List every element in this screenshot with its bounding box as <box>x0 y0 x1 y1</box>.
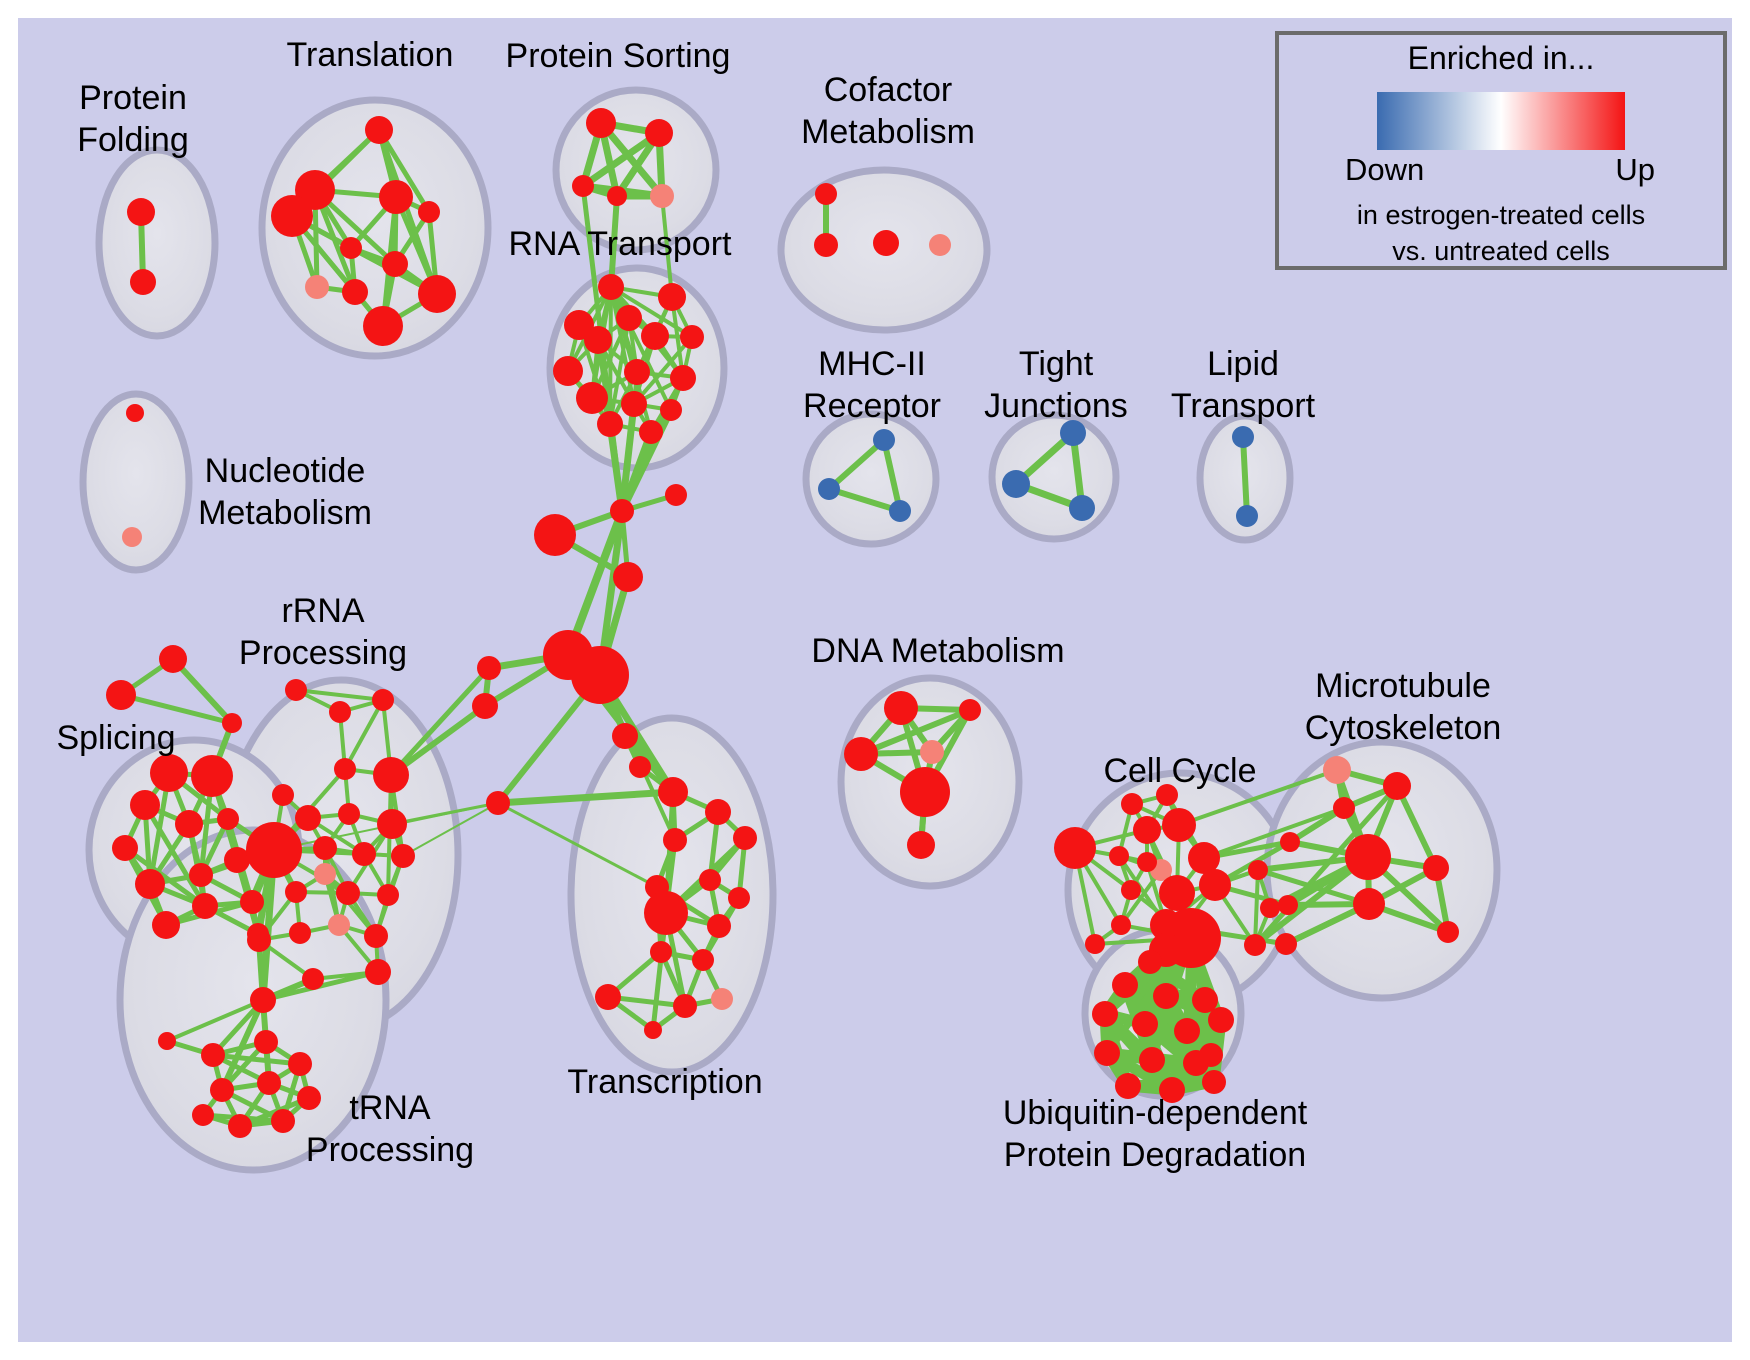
node-splicing-64[interactable] <box>112 835 138 861</box>
node-dna-metabolism-125[interactable] <box>844 737 878 771</box>
node-translation-6[interactable] <box>418 201 440 223</box>
node-transcription-119[interactable] <box>595 984 621 1010</box>
node-rna-transport-21[interactable] <box>616 305 642 331</box>
node-protein-sorting-14[interactable] <box>645 119 673 147</box>
cluster-label-protein-sorting: Protein Sorting <box>506 37 731 75</box>
node-microtubule-150[interactable] <box>1383 772 1411 800</box>
node-rna-transport-31[interactable] <box>597 411 623 437</box>
node-spine-50[interactable] <box>613 562 643 592</box>
node-lipid-transport-45[interactable] <box>1232 426 1254 448</box>
node-trna-processing-103[interactable] <box>228 1114 252 1138</box>
node-cofactor-34[interactable] <box>814 233 838 257</box>
node-splicing-63[interactable] <box>217 808 239 830</box>
node-spine-48[interactable] <box>665 484 687 506</box>
node-cell-cycle-139[interactable] <box>1159 875 1195 911</box>
node-rrna-processing-75[interactable] <box>334 758 356 780</box>
node-cofactor-33[interactable] <box>815 183 837 205</box>
node-ubiquitin-162[interactable] <box>1092 1001 1118 1027</box>
node-ubiquitin-172[interactable] <box>1138 950 1162 974</box>
node-rrna-processing-89[interactable] <box>328 914 350 936</box>
node-translation-11[interactable] <box>418 275 456 313</box>
node-transcription-107[interactable] <box>629 756 651 778</box>
node-dna-metabolism-128[interactable] <box>907 831 935 859</box>
node-spine-53[interactable] <box>477 656 501 680</box>
network-canvas[interactable]: ProteinFoldingTranslationProtein Sorting… <box>0 0 1750 1360</box>
node-rrna-processing-78[interactable] <box>295 805 321 831</box>
node-splicing-70[interactable] <box>240 890 264 914</box>
node-ubiquitin-160[interactable] <box>1153 983 1179 1009</box>
node-transcription-111[interactable] <box>733 826 757 850</box>
node-rrna-processing-88[interactable] <box>377 884 399 906</box>
node-nucleotide-37[interactable] <box>126 404 144 422</box>
node-transcription-114[interactable] <box>728 887 750 909</box>
node-spine-54[interactable] <box>472 693 498 719</box>
node-transcription-121[interactable] <box>711 988 733 1010</box>
node-rna-transport-18[interactable] <box>598 274 624 300</box>
node-splicing-56[interactable] <box>159 645 187 673</box>
node-trna-processing-100[interactable] <box>210 1078 234 1102</box>
node-dna-metabolism-127[interactable] <box>900 767 950 817</box>
edge-lipid-transport <box>1243 437 1247 516</box>
node-rrna-processing-73[interactable] <box>329 701 351 723</box>
node-cell-cycle-132[interactable] <box>1133 816 1161 844</box>
node-protein-sorting-16[interactable] <box>607 186 627 206</box>
node-protein-sorting-13[interactable] <box>586 108 616 138</box>
node-trna-processing-99[interactable] <box>288 1052 312 1076</box>
node-tight-junctions-44[interactable] <box>1069 495 1095 521</box>
node-protein-sorting-17[interactable] <box>650 184 674 208</box>
node-rrna-processing-74[interactable] <box>372 689 394 711</box>
node-rna-transport-29[interactable] <box>621 391 647 417</box>
node-translation-8[interactable] <box>382 251 408 277</box>
cluster-label-translation: Translation <box>287 36 454 74</box>
node-microtubule-154[interactable] <box>1353 888 1385 920</box>
legend-title: Enriched in... <box>1408 40 1595 76</box>
node-lipid-transport-46[interactable] <box>1236 505 1258 527</box>
node-rna-transport-19[interactable] <box>658 283 686 311</box>
node-cell-cycle-142[interactable] <box>1111 915 1131 935</box>
node-protein-folding-0[interactable] <box>127 198 155 226</box>
node-translation-5[interactable] <box>271 195 313 237</box>
node-rrna-processing-84[interactable] <box>391 844 415 868</box>
node-rrna-processing-85[interactable] <box>314 863 336 885</box>
legend: Enriched in... Down Up in estrogen-treat… <box>1277 33 1725 268</box>
node-spine-47[interactable] <box>610 499 634 523</box>
node-transcription-116[interactable] <box>707 914 731 938</box>
legend-down-label: Down <box>1345 152 1424 187</box>
node-splicing-57[interactable] <box>106 680 136 710</box>
node-transcription-115[interactable] <box>644 891 688 935</box>
node-rrna-processing-77[interactable] <box>373 757 409 793</box>
node-rrna-processing-79[interactable] <box>338 803 360 825</box>
enrichment-map-figure: ProteinFoldingTranslationProtein Sorting… <box>0 0 1750 1360</box>
node-cell-cycle-143[interactable] <box>1248 860 1268 880</box>
node-ubiquitin-166[interactable] <box>1094 1040 1120 1066</box>
node-nucleotide-38[interactable] <box>122 527 142 547</box>
node-transcription-106[interactable] <box>612 723 638 749</box>
node-rrna-processing-72[interactable] <box>285 679 307 701</box>
node-splicing-60[interactable] <box>191 755 233 797</box>
node-rrna-processing-76[interactable] <box>272 784 294 806</box>
node-rna-transport-25[interactable] <box>553 356 583 386</box>
node-mhc-ii-39[interactable] <box>873 429 895 451</box>
node-transcription-117[interactable] <box>650 941 672 963</box>
node-trna-processing-97[interactable] <box>201 1043 225 1067</box>
node-rna-transport-32[interactable] <box>639 420 663 444</box>
node-translation-7[interactable] <box>340 237 362 259</box>
node-trna-processing-98[interactable] <box>254 1030 278 1054</box>
legend-subtitle-line-2: vs. untreated cells <box>1392 236 1610 266</box>
node-rna-transport-30[interactable] <box>660 399 682 421</box>
node-transcription-113[interactable] <box>699 869 721 891</box>
node-spine-55[interactable] <box>486 791 510 815</box>
node-trna-processing-105[interactable] <box>192 1104 214 1126</box>
node-rrna-processing-81[interactable] <box>246 822 302 878</box>
node-mhc-ii-40[interactable] <box>818 478 840 500</box>
node-microtubule-158[interactable] <box>1275 933 1297 955</box>
node-translation-4[interactable] <box>379 180 413 214</box>
node-cell-cycle-137[interactable] <box>1137 852 1157 872</box>
node-translation-9[interactable] <box>305 275 329 299</box>
cluster-label-cell-cycle: Cell Cycle <box>1103 752 1256 790</box>
node-cell-cycle-133[interactable] <box>1162 808 1196 842</box>
cluster-label-splicing: Splicing <box>56 719 175 757</box>
node-rna-transport-22[interactable] <box>641 322 669 350</box>
node-transcription-108[interactable] <box>658 777 688 807</box>
node-trna-processing-102[interactable] <box>297 1086 321 1110</box>
node-cell-cycle-131[interactable] <box>1054 827 1096 869</box>
node-microtubule-155[interactable] <box>1437 921 1459 943</box>
node-rrna-processing-86[interactable] <box>285 881 307 903</box>
node-spine-49[interactable] <box>534 514 576 556</box>
node-tight-junctions-43[interactable] <box>1002 470 1030 498</box>
node-ubiquitin-167[interactable] <box>1139 1047 1165 1073</box>
node-trna-processing-96[interactable] <box>158 1032 176 1050</box>
node-protein-sorting-15[interactable] <box>572 175 594 197</box>
node-rrna-processing-92[interactable] <box>247 928 271 952</box>
node-microtubule-157[interactable] <box>1278 895 1298 915</box>
node-ubiquitin-164[interactable] <box>1174 1018 1200 1044</box>
node-microtubule-156[interactable] <box>1280 832 1300 852</box>
node-splicing-65[interactable] <box>135 869 165 899</box>
node-ubiquitin-163[interactable] <box>1132 1011 1158 1037</box>
node-cell-cycle-145[interactable] <box>1244 934 1266 956</box>
node-cell-cycle-140[interactable] <box>1199 869 1231 901</box>
node-rna-transport-23[interactable] <box>584 326 612 354</box>
node-translation-10[interactable] <box>342 279 368 305</box>
node-microtubule-153[interactable] <box>1423 855 1449 881</box>
node-rrna-processing-87[interactable] <box>336 881 360 905</box>
node-transcription-109[interactable] <box>663 828 687 852</box>
node-splicing-68[interactable] <box>152 911 180 939</box>
node-splicing-61[interactable] <box>130 790 160 820</box>
node-ubiquitin-165[interactable] <box>1208 1007 1234 1033</box>
node-trna-processing-95[interactable] <box>250 987 276 1013</box>
node-transcription-120[interactable] <box>673 994 697 1018</box>
node-dna-metabolism-123[interactable] <box>884 691 918 725</box>
node-cell-cycle-146[interactable] <box>1085 934 1105 954</box>
cluster-label-dna-metabolism: DNA Metabolism <box>811 632 1064 670</box>
node-rrna-processing-93[interactable] <box>365 959 391 985</box>
node-splicing-66[interactable] <box>189 863 213 887</box>
node-cofactor-35[interactable] <box>873 230 899 256</box>
node-microtubule-149[interactable] <box>1323 756 1351 784</box>
cluster-label-transcription: Transcription <box>567 1063 762 1101</box>
node-dna-metabolism-124[interactable] <box>959 699 981 721</box>
legend-up-label: Up <box>1615 152 1655 187</box>
node-protein-folding-1[interactable] <box>130 269 156 295</box>
node-rna-transport-27[interactable] <box>670 365 696 391</box>
node-cell-cycle-138[interactable] <box>1121 880 1141 900</box>
node-rna-transport-26[interactable] <box>624 359 650 385</box>
node-rna-transport-28[interactable] <box>576 382 608 414</box>
node-spine-52[interactable] <box>571 646 629 704</box>
node-rrna-processing-91[interactable] <box>364 924 388 948</box>
node-microtubule-151[interactable] <box>1333 797 1355 819</box>
node-ubiquitin-159[interactable] <box>1112 972 1138 998</box>
cluster-ellipse-protein-folding[interactable] <box>99 150 215 336</box>
node-cell-cycle-129[interactable] <box>1121 793 1143 815</box>
node-cell-cycle-144[interactable] <box>1260 898 1280 918</box>
node-ubiquitin-173[interactable] <box>1199 1043 1223 1067</box>
node-rrna-processing-83[interactable] <box>352 842 376 866</box>
node-cofactor-36[interactable] <box>929 234 951 256</box>
node-rrna-processing-82[interactable] <box>313 836 337 860</box>
node-dna-metabolism-126[interactable] <box>920 740 944 764</box>
node-splicing-58[interactable] <box>222 713 242 733</box>
node-cell-cycle-134[interactable] <box>1109 846 1129 866</box>
node-translation-12[interactable] <box>363 306 403 346</box>
node-splicing-59[interactable] <box>150 754 188 792</box>
node-transcription-122[interactable] <box>644 1021 662 1039</box>
node-trna-processing-101[interactable] <box>257 1071 281 1095</box>
node-rrna-processing-90[interactable] <box>289 922 311 944</box>
node-splicing-62[interactable] <box>175 810 203 838</box>
node-transcription-118[interactable] <box>692 949 714 971</box>
legend-color-bar <box>1377 92 1625 150</box>
cluster-label-rna-transport: RNA Transport <box>509 225 733 263</box>
node-rrna-processing-94[interactable] <box>302 968 324 990</box>
legend-subtitle-line-1: in estrogen-treated cells <box>1357 200 1645 230</box>
node-transcription-110[interactable] <box>705 799 731 825</box>
node-microtubule-152[interactable] <box>1345 834 1391 880</box>
node-splicing-69[interactable] <box>192 893 218 919</box>
node-ubiquitin-171[interactable] <box>1202 1070 1226 1094</box>
node-rna-transport-24[interactable] <box>680 325 704 349</box>
node-translation-2[interactable] <box>365 116 393 144</box>
node-trna-processing-104[interactable] <box>271 1109 295 1133</box>
node-mhc-ii-41[interactable] <box>889 500 911 522</box>
node-rrna-processing-80[interactable] <box>377 809 407 839</box>
